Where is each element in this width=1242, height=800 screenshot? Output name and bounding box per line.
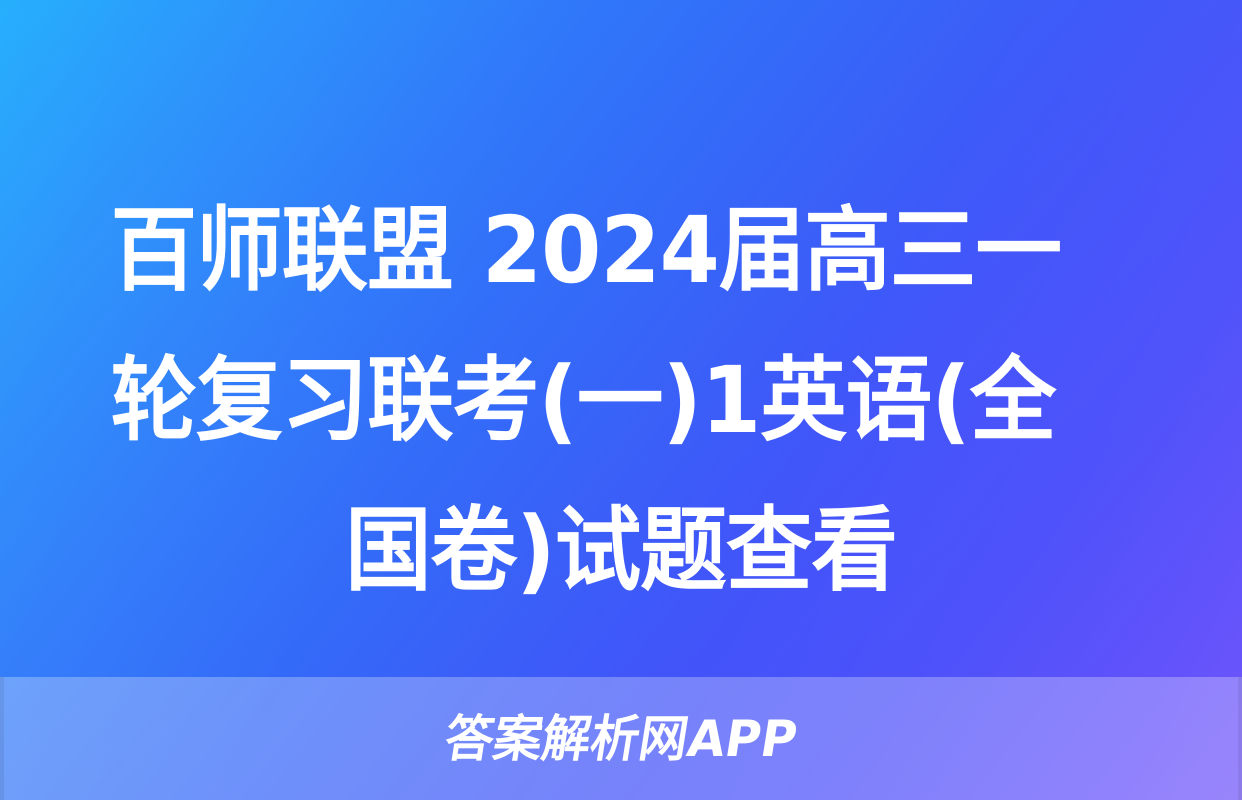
watermark-app-label: 答案解析网APP <box>441 714 800 764</box>
page-title: 百师联盟 2024届高三一 轮复习联考(一)1英语(全 国卷)试题查看 <box>0 176 1242 626</box>
watermark-band: 答案解析网APP <box>0 677 1242 800</box>
exam-paper-cover-card: 百师联盟 2024届高三一 轮复习联考(一)1英语(全 国卷)试题查看 答案解析… <box>0 0 1242 800</box>
watermark-band-right-edge <box>1238 677 1242 800</box>
watermark-band-left-edge <box>0 677 4 800</box>
title-line-1: 百师联盟 2024届高三一 <box>111 176 1132 326</box>
title-line-2: 轮复习联考(一)1英语(全 <box>111 326 1132 476</box>
title-line-3: 国卷)试题查看 <box>111 476 1132 626</box>
